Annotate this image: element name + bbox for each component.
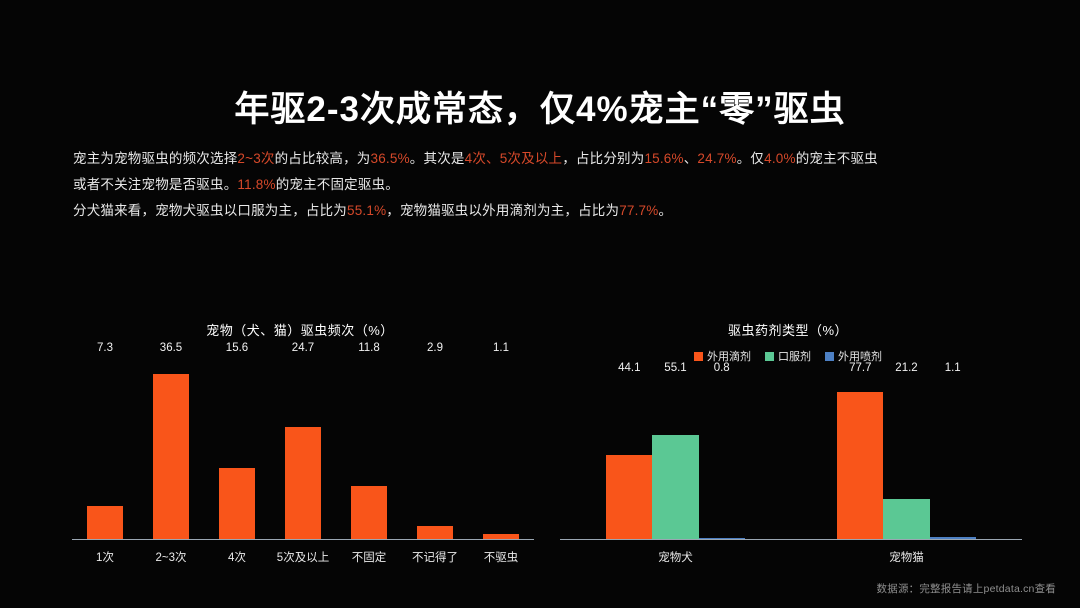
bar-value-label: 15.6 (226, 343, 248, 355)
plot-area-right: 44.155.10.877.721.21.1 宠物犬宠物猫 (548, 378, 1028, 540)
text-seg: 。其次是 (410, 151, 465, 166)
x-axis-line-left (72, 539, 534, 540)
bar-column[interactable]: 55.1 (652, 378, 698, 539)
bar[interactable] (837, 392, 883, 539)
text-seg: 分犬猫来看，宠物犬驱虫以口服为主，占比为 (73, 203, 347, 218)
bar-series-right: 44.155.10.877.721.21.1 (560, 378, 1022, 539)
text-seg: 的占比较高，为 (275, 151, 371, 166)
legend-swatch-icon (825, 352, 834, 361)
x-tick-label: 2~3次 (138, 549, 204, 565)
text-seg: ，占比分别为 (562, 151, 644, 166)
highlight-247: 24.7% (697, 151, 736, 166)
highlight-2to3: 2~3次 (237, 151, 274, 166)
highlight-156: 15.6% (644, 151, 683, 166)
bar-group: 77.721.21.1 (791, 378, 1022, 539)
bar[interactable] (652, 435, 698, 539)
bar[interactable] (351, 486, 387, 539)
legend-swatch-icon (765, 352, 774, 361)
x-tick-label: 不驱虫 (468, 549, 534, 565)
bar-value-label: 1.1 (493, 343, 509, 355)
legend-swatch-icon (694, 352, 703, 361)
x-tick-label: 不固定 (336, 549, 402, 565)
legend-item[interactable]: 口服剂 (765, 348, 811, 364)
charts-container: 宠物（犬、猫）驱虫频次（%） 7.336.515.624.711.82.91.1… (0, 310, 1080, 570)
x-tick-label: 宠物犬 (560, 549, 791, 565)
bar[interactable] (219, 468, 255, 539)
chart-title-left: 宠物（犬、猫）驱虫频次（%） (60, 310, 540, 339)
highlight-40: 4.0% (764, 151, 796, 166)
highlight-118: 11.8% (237, 177, 275, 192)
x-axis-labels-right: 宠物犬宠物猫 (560, 549, 1022, 565)
bar-column[interactable]: 2.9 (417, 358, 453, 539)
bar-value-label: 21.2 (895, 363, 917, 375)
bar-category: 36.5 (138, 358, 204, 539)
bar[interactable] (606, 455, 652, 539)
bar-value-label: 77.7 (849, 363, 871, 375)
highlight-551: 55.1% (347, 203, 386, 218)
bar-group: 44.155.10.8 (560, 378, 791, 539)
summary-line-3: 分犬猫来看，宠物犬驱虫以口服为主，占比为55.1%，宠物猫驱虫以外用滴剂为主，占… (73, 198, 1013, 224)
legend-label: 口服剂 (778, 348, 811, 364)
x-axis-labels-left: 1次2~3次4次5次及以上不固定不记得了不驱虫 (72, 549, 534, 565)
bar[interactable] (153, 374, 189, 539)
bar-category: 1.1 (468, 358, 534, 539)
bar[interactable] (883, 499, 929, 539)
bar-value-label: 55.1 (664, 363, 686, 375)
bar-column[interactable]: 0.8 (699, 378, 745, 539)
bar-column[interactable]: 44.1 (606, 378, 652, 539)
bar-value-label: 7.3 (97, 343, 113, 355)
summary-line-1: 宠主为宠物驱虫的频次选择2~3次的占比较高，为36.5%。其次是4次、5次及以上… (73, 146, 1013, 172)
page-title: 年驱2-3次成常态，仅4%宠主“零”驱虫 (0, 89, 1080, 131)
bar-column[interactable]: 77.7 (837, 378, 883, 539)
text-seg: ，宠物猫驱虫以外用滴剂为主，占比为 (386, 203, 619, 218)
highlight-365: 36.5% (371, 151, 410, 166)
bar-value-label: 1.1 (945, 363, 961, 375)
bar-value-label: 11.8 (358, 343, 380, 355)
text-seg: 的宠主不驱虫 (796, 151, 878, 166)
bar-column[interactable]: 11.8 (351, 358, 387, 539)
text-seg: 。 (658, 203, 672, 218)
bar-category: 15.6 (204, 358, 270, 539)
bar-value-label: 44.1 (618, 363, 640, 375)
bar-column[interactable]: 7.3 (87, 358, 123, 539)
chart-deworming-drug-type: 驱虫药剂类型（%） 外用滴剂口服剂外用喷剂 44.155.10.877.721.… (548, 310, 1028, 570)
bar-category: 11.8 (336, 358, 402, 539)
bar-column[interactable]: 36.5 (153, 358, 189, 539)
bar-value-label: 24.7 (292, 343, 314, 355)
highlight-777: 77.7% (619, 203, 658, 218)
x-tick-label: 1次 (72, 549, 138, 565)
text-seg: 。仅 (737, 151, 764, 166)
text-seg: 宠主为宠物驱虫的频次选择 (73, 151, 237, 166)
text-seg: 或者不关注宠物是否驱虫。 (73, 177, 237, 192)
plot-area-left: 7.336.515.624.711.82.91.1 1次2~3次4次5次及以上不… (60, 358, 540, 540)
bar-column[interactable]: 15.6 (219, 358, 255, 539)
x-axis-line-right (560, 539, 1022, 540)
chart-title-right: 驱虫药剂类型（%） (548, 310, 1028, 339)
bar-category: 7.3 (72, 358, 138, 539)
summary-paragraph: 宠主为宠物驱虫的频次选择2~3次的占比较高，为36.5%。其次是4次、5次及以上… (73, 146, 1013, 224)
text-seg: 、 (684, 151, 698, 166)
x-tick-label: 5次及以上 (270, 549, 336, 565)
data-source-note: 数据源：完整报告请上petdata.cn查看 (877, 581, 1056, 596)
bar[interactable] (285, 427, 321, 539)
bar-column[interactable]: 1.1 (483, 358, 519, 539)
bar-column[interactable]: 21.2 (883, 378, 929, 539)
highlight-4and5: 4次、5次及以上 (465, 151, 563, 166)
slide-root: 年驱2-3次成常态，仅4%宠主“零”驱虫 宠主为宠物驱虫的频次选择2~3次的占比… (0, 0, 1080, 608)
chart-deworming-frequency: 宠物（犬、猫）驱虫频次（%） 7.336.515.624.711.82.91.1… (60, 310, 540, 570)
bar[interactable] (417, 526, 453, 539)
x-tick-label: 不记得了 (402, 549, 468, 565)
bar-category: 2.9 (402, 358, 468, 539)
bar-series-left: 7.336.515.624.711.82.91.1 (72, 358, 534, 539)
text-seg: 的宠主不固定驱虫。 (276, 177, 399, 192)
summary-line-2: 或者不关注宠物是否驱虫。11.8%的宠主不固定驱虫。 (73, 172, 1013, 198)
bar-value-label: 2.9 (427, 343, 443, 355)
bar-value-label: 0.8 (714, 363, 730, 375)
bar-column[interactable]: 1.1 (930, 378, 976, 539)
bar-value-label: 36.5 (160, 343, 182, 355)
bar-column[interactable]: 24.7 (285, 358, 321, 539)
bar-category: 24.7 (270, 358, 336, 539)
x-tick-label: 宠物猫 (791, 549, 1022, 565)
bar[interactable] (87, 506, 123, 539)
x-tick-label: 4次 (204, 549, 270, 565)
